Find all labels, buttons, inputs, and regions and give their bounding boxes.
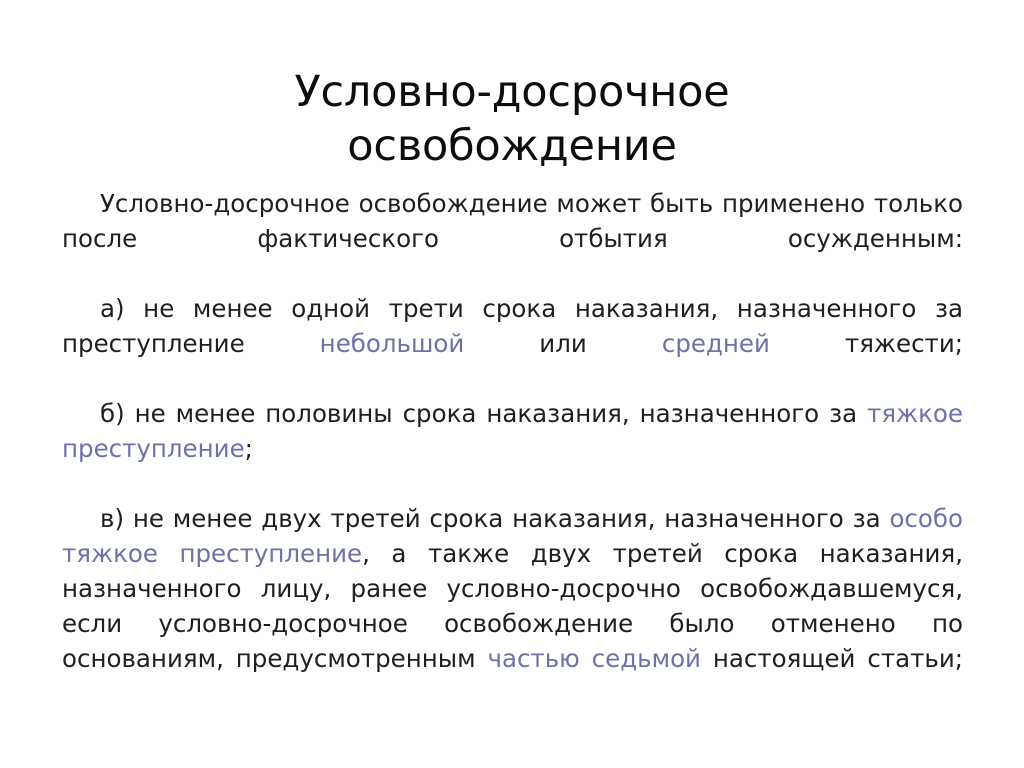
legal-term-link[interactable]: небольшой (320, 329, 465, 358)
slide: Условно-досрочное освобождение Условно-д… (0, 0, 1024, 768)
title-line-2: освобождение (90, 119, 934, 173)
body-text-run: тяжести; (770, 329, 963, 358)
title-line-1: Условно-досрочное (90, 65, 934, 119)
paragraph-item-b: б) не менее половины срока наказания, на… (62, 396, 963, 501)
body-text-run: Условно-досрочное освобождение может быт… (62, 189, 963, 253)
body-text-run: ; (245, 434, 253, 463)
body-text-run: в) не менее двух третей срока наказания,… (100, 504, 889, 533)
body-text-run: б) не менее половины срока наказания, на… (100, 399, 867, 428)
legal-term-link[interactable]: средней (662, 329, 770, 358)
paragraph-intro: Условно-досрочное освобождение может быт… (62, 186, 963, 291)
body-text-run: настоящей статьи; (701, 644, 963, 673)
paragraph-item-v: в) не менее двух третей срока наказания,… (62, 501, 963, 711)
legal-term-link[interactable]: частью седьмой (487, 644, 701, 673)
slide-body: Условно-досрочное освобождение может быт… (62, 186, 963, 711)
page-title: Условно-досрочное освобождение (0, 65, 1024, 173)
body-text-run: или (464, 329, 662, 358)
paragraph-item-a: а) не менее одной трети срока наказания,… (62, 291, 963, 396)
